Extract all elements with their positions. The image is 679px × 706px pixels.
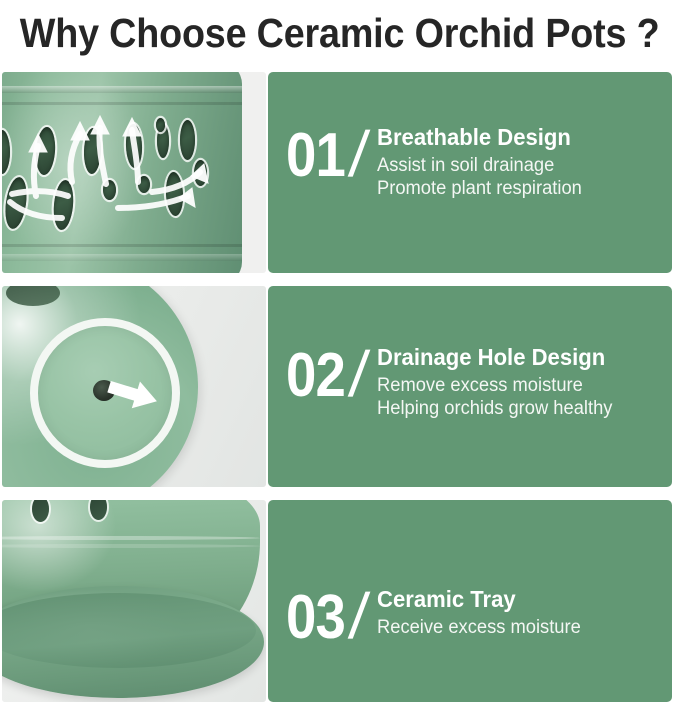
feature-text-block: Drainage Hole Design Remove excess moist… (377, 342, 621, 420)
pot-ventilation-holes-airflow-photo (2, 72, 266, 273)
feature-description-line: Helping orchids grow healthy (377, 397, 612, 420)
feature-number: 03 (286, 587, 345, 649)
feature-row: 01 / Breathable Design Assist in soil dr… (0, 72, 679, 273)
feature-number-block: 03 / (282, 584, 368, 649)
feature-number-slash: / (347, 584, 372, 648)
feature-title: Drainage Hole Design (377, 345, 611, 371)
feature-number-slash: / (347, 122, 372, 186)
feature-description-line: Promote plant respiration (377, 177, 582, 200)
feature-panel-02: 02 / Drainage Hole Design Remove excess … (268, 286, 672, 487)
feature-description-line: Assist in soil drainage (377, 154, 582, 177)
feature-number-slash: / (347, 342, 372, 406)
airflow-arrows-icon (2, 72, 242, 273)
water-flow-arrow-icon (106, 378, 164, 418)
feature-number: 01 (286, 125, 345, 187)
feature-panel-01: 01 / Breathable Design Assist in soil dr… (268, 72, 672, 273)
feature-title: Ceramic Tray (377, 587, 580, 613)
page-title-bar: Why Choose Ceramic Orchid Pots ? (0, 0, 679, 66)
infographic-page: Why Choose Ceramic Orchid Pots ? (0, 0, 679, 706)
feature-number-block: 02 / (282, 342, 368, 407)
feature-row: 02 / Drainage Hole Design Remove excess … (0, 286, 679, 487)
feature-title: Breathable Design (377, 125, 581, 151)
feature-description: Assist in soil drainage Promote plant re… (377, 154, 589, 200)
feature-description: Remove excess moisture Helping orchids g… (377, 374, 621, 420)
feature-description-line: Remove excess moisture (377, 374, 612, 397)
feature-number: 02 (286, 345, 345, 407)
feature-description: Receive excess moisture (377, 616, 588, 639)
feature-text-block: Breathable Design Assist in soil drainag… (377, 122, 589, 200)
page-title: Why Choose Ceramic Orchid Pots ? (20, 10, 660, 57)
feature-row: 03 / Ceramic Tray Receive excess moistur… (0, 500, 679, 702)
ceramic-tray-basin (2, 593, 256, 668)
pot-on-ceramic-tray-photo (2, 500, 266, 702)
feature-text-block: Ceramic Tray Receive excess moisture (377, 584, 588, 639)
feature-number-block: 01 / (282, 122, 368, 187)
feature-panel-03: 03 / Ceramic Tray Receive excess moistur… (268, 500, 672, 702)
feature-description-line: Receive excess moisture (377, 616, 581, 639)
pot-bottom-drainage-hole-photo (2, 286, 266, 487)
